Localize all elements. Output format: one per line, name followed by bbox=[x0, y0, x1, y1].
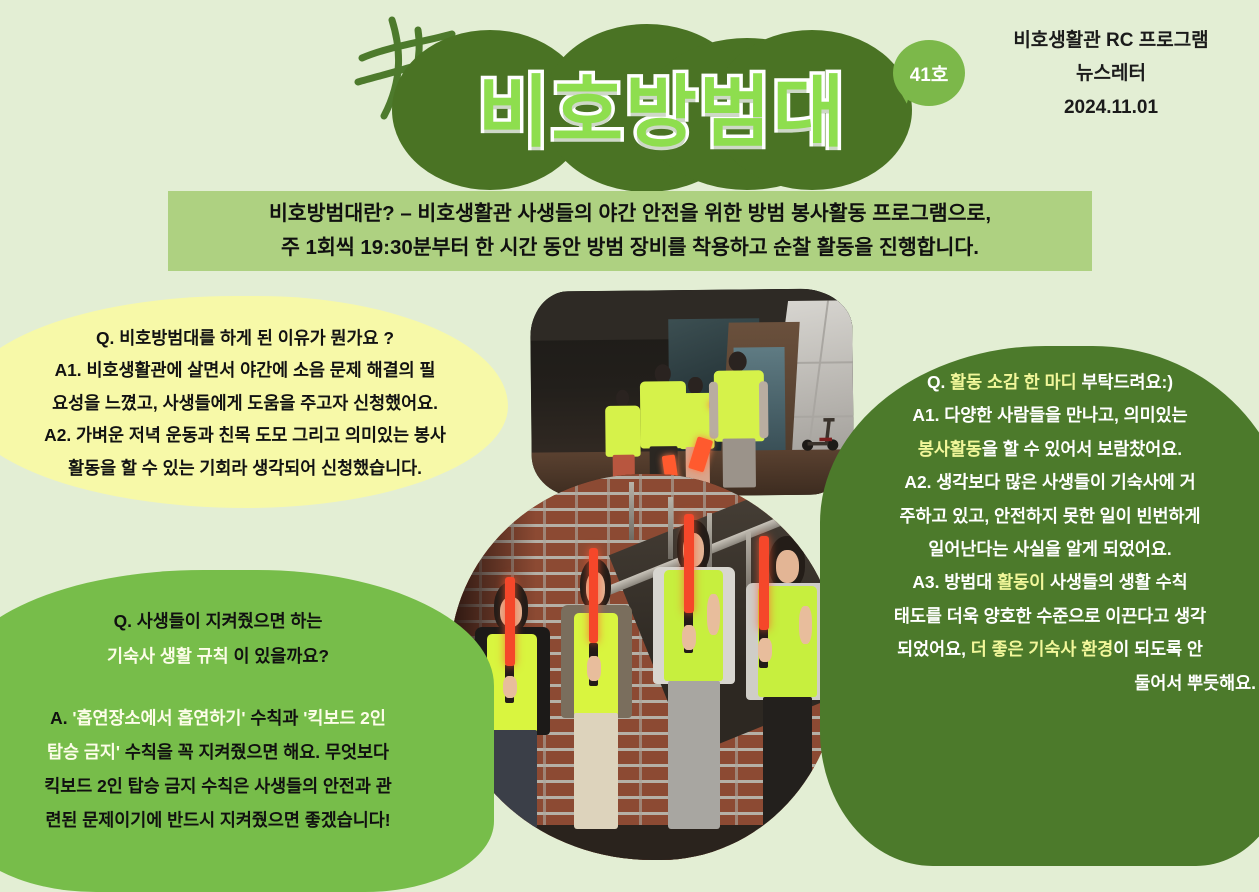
qa-yellow-question: Q. 비호방범대를 하게 된 이유가 뭔가요 ? bbox=[14, 322, 476, 354]
qa-green-left-answer-highlight2: '킥보드 2인 bbox=[303, 708, 386, 728]
issue-number-label: 41호 bbox=[910, 60, 949, 87]
qa-green-left-answer-line2-rest: 수칙을 꼭 지켜줬으면 해요. 무엇보다 bbox=[120, 742, 389, 762]
qa-green-left-answer-prefix: A. bbox=[50, 708, 72, 728]
qa-yellow-answer2-line2: 활동을 할 수 있는 기회라 생각되어 신청했습니다. bbox=[14, 452, 476, 484]
org-name-line1: 비호생활관 RC 프로그램 bbox=[975, 24, 1247, 57]
qa-green-right-a1-highlight: 봉사활동 bbox=[918, 439, 982, 459]
qa-green-right-a1-line2: 봉사활동을 할 수 있어서 보람찼어요. bbox=[844, 433, 1256, 466]
qa-green-left-answer-line4: 련된 문제이기에 반드시 지켜줬으면 좋겠습니다! bbox=[2, 804, 434, 838]
qa-card-yellow: Q. 비호방범대를 하게 된 이유가 뭔가요 ? A1. 비호생활관에 살면서 … bbox=[0, 296, 508, 508]
qa-green-left-question-line2: 기숙사 생활 규칙 이 있을까요? bbox=[18, 639, 418, 674]
qa-green-right-a3-l3-rest: 이 되도록 안 bbox=[1113, 639, 1203, 659]
qa-green-right-a3-prefix: A3. 방범대 bbox=[912, 572, 997, 592]
qa-green-right-question-prefix: Q. bbox=[927, 372, 950, 392]
qa-green-right-a3-rest: 사생들의 생활 수칙 bbox=[1045, 572, 1188, 592]
qa-green-right-a3-line1: A3. 방범대 활동이 사생들의 생활 수칙 bbox=[844, 566, 1256, 599]
qa-green-right-a1-line1: A1. 다양한 사람들을 만나고, 의미있는 bbox=[844, 399, 1256, 432]
program-description-banner: 비호방범대란? – 비호생활관 사생들의 야간 안전을 위한 방범 봉사활동 프… bbox=[168, 191, 1092, 271]
scooter-shape-icon bbox=[798, 404, 840, 462]
qa-green-left-answer-mid: 수칙과 bbox=[246, 708, 304, 728]
org-name-line2: 뉴스레터 bbox=[975, 57, 1247, 90]
qa-yellow-answer2-line1: A2. 가벼운 저녁 운동과 친목 도모 그리고 의미있는 봉사 bbox=[14, 419, 476, 451]
header-meta: 비호생활관 RC 프로그램 뉴스레터 2024.11.01 bbox=[975, 24, 1247, 124]
program-description-line2: 주 1회씩 19:30분부터 한 시간 동안 방범 장비를 착용하고 순찰 활동… bbox=[281, 231, 979, 265]
qa-green-right-question: Q. 활동 소감 한 마디 부탁드려요:) bbox=[844, 366, 1256, 399]
qa-green-right-a2-line1: A2. 생각보다 많은 사생들이 기숙사에 거 bbox=[844, 466, 1256, 499]
qa-green-left-question-rest: 이 있을까요? bbox=[229, 646, 329, 666]
qa-green-left-answer: A. '흡연장소에서 흡연하기' 수칙과 '킥보드 2인 탑승 금지' 수칙을 … bbox=[2, 702, 434, 838]
qa-green-right-question-suffix: 부탁드려요:) bbox=[1077, 372, 1173, 392]
qa-green-left-answer-highlight3: 탑승 금지' bbox=[47, 742, 120, 762]
qa-green-right-a3-highlight: 활동이 bbox=[997, 572, 1045, 592]
qa-green-left-question-line1: Q. 사생들이 지켜줬으면 하는 bbox=[18, 604, 418, 639]
qa-green-right-a3-line4: 둘어서 뿌듯해요. bbox=[844, 667, 1256, 700]
qa-green-left-question: Q. 사생들이 지켜줬으면 하는 기숙사 생활 규칙 이 있을까요? bbox=[18, 604, 418, 674]
qa-green-right-question-highlight: 활동 소감 한 마디 bbox=[950, 372, 1077, 392]
issue-date: 2024.11.01 bbox=[975, 91, 1247, 124]
qa-yellow-answer1-line1: A1. 비호생활관에 살면서 야간에 소음 문제 해결의 필 bbox=[14, 354, 476, 386]
qa-yellow-answer1-line2: 요성을 느꼈고, 사생들에게 도움을 주고자 신청했어요. bbox=[14, 387, 476, 419]
qa-green-right-a2-line3: 일어난다는 사실을 알게 되었어요. bbox=[844, 533, 1256, 566]
night-patrol-corridor-photo bbox=[530, 288, 854, 497]
qa-green-left-answer-line1: A. '흡연장소에서 흡연하기' 수칙과 '킥보드 2인 bbox=[2, 702, 434, 736]
qa-green-right-text: Q. 활동 소감 한 마디 부탁드려요:) A1. 다양한 사람들을 만나고, … bbox=[844, 366, 1256, 700]
qa-green-left-answer-line3: 킥보드 2인 탑승 금지 수칙은 사생들의 안전과 관 bbox=[2, 770, 434, 804]
issue-number-badge: 41호 bbox=[893, 40, 965, 106]
newsletter-poster: 비호방범대 41호 비호생활관 RC 프로그램 뉴스레터 2024.11.01 … bbox=[0, 0, 1259, 892]
qa-card-green-left: Q. 사생들이 지켜줬으면 하는 기숙사 생활 규칙 이 있을까요? A. '흡… bbox=[0, 570, 494, 892]
qa-yellow-text: Q. 비호방범대를 하게 된 이유가 뭔가요 ? A1. 비호생활관에 살면서 … bbox=[14, 322, 476, 484]
qa-green-right-a1-rest: 을 할 수 있어서 보람찼어요. bbox=[982, 439, 1182, 459]
qa-green-right-a3-l3-highlight: 더 좋은 기숙사 환경 bbox=[971, 639, 1114, 659]
qa-green-right-a3-l3-prefix: 되었어요, bbox=[897, 639, 971, 659]
poster-title: 비호방범대 bbox=[392, 36, 932, 176]
qa-green-right-a3-line2: 태도를 더욱 양호한 수준으로 이끈다고 생각 bbox=[844, 600, 1256, 633]
qa-green-right-a2-line2: 주하고 있고, 안전하지 못한 일이 빈번하게 bbox=[844, 500, 1256, 533]
qa-green-left-answer-highlight1: '흡연장소에서 흡연하기' bbox=[72, 708, 245, 728]
qa-green-left-answer-line2: 탑승 금지' 수칙을 꼭 지켜줬으면 해요. 무엇보다 bbox=[2, 736, 434, 770]
qa-green-right-a3-line3: 되었어요, 더 좋은 기숙사 환경이 되도록 안 bbox=[844, 633, 1256, 666]
qa-green-left-question-highlight: 기숙사 생활 규칙 bbox=[107, 646, 229, 666]
qa-card-green-right: Q. 활동 소감 한 마디 부탁드려요:) A1. 다양한 사람들을 만나고, … bbox=[820, 346, 1259, 866]
program-description-line1: 비호방범대란? – 비호생활관 사생들의 야간 안전을 위한 방범 봉사활동 프… bbox=[269, 197, 991, 231]
patrol-team-group-photo bbox=[450, 474, 840, 860]
